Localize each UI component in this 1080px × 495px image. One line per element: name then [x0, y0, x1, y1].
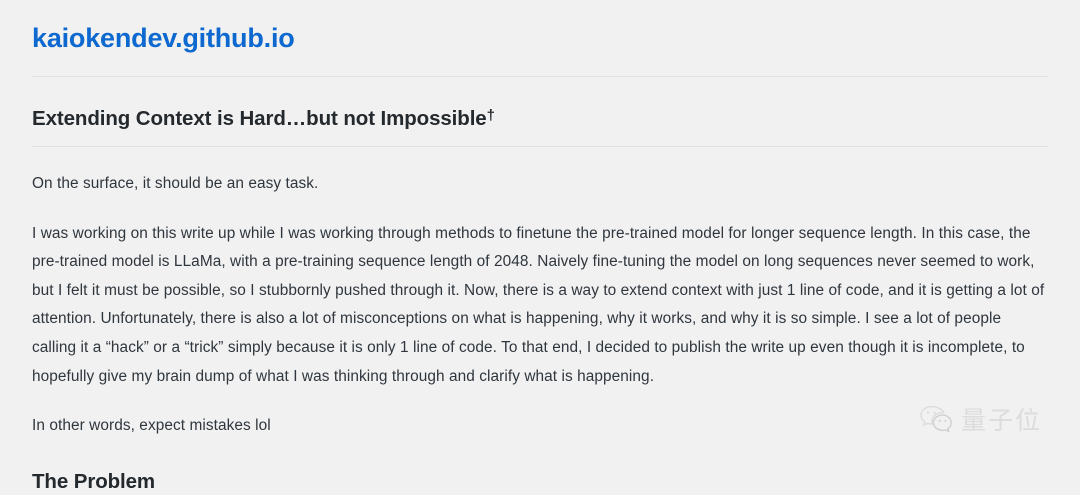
section-heading-the-problem: The Problem [32, 441, 1048, 495]
site-header: kaiokendev.github.io [32, 0, 1048, 64]
article-title: Extending Context is Hard…but not Imposs… [32, 77, 1048, 146]
paragraph-intro: On the surface, it should be an easy tas… [32, 147, 1048, 199]
article-title-text: Extending Context is Hard…but not Imposs… [32, 107, 487, 130]
paragraph-main: I was working on this write up while I w… [32, 199, 1048, 392]
paragraph-closing: In other words, expect mistakes lol [32, 391, 1048, 441]
article: Extending Context is Hard…but not Imposs… [32, 77, 1048, 495]
article-title-dagger: † [487, 107, 495, 124]
site-title-link[interactable]: kaiokendev.github.io [32, 22, 295, 54]
page-root: kaiokendev.github.io Extending Context i… [0, 0, 1080, 461]
